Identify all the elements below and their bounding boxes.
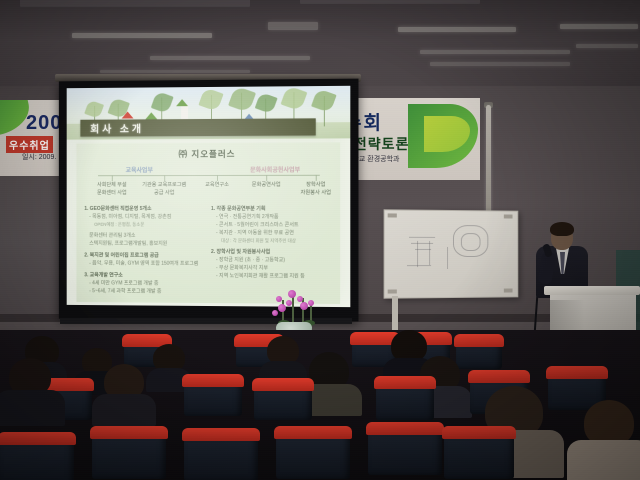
slide-title-bar: 회사 소개: [80, 118, 315, 136]
org-tag-right: 문화사회공헌사업부: [250, 165, 300, 174]
slide-bullet: 대상 : 각 문화센터 회원 및 지역주민 대상: [211, 237, 336, 244]
whiteboard-sketch: [461, 233, 481, 251]
banner-right: 수회 공전략토론 대학교 환경공학과: [338, 98, 480, 180]
org-node: 기관용 교육프로그램공급 사업: [137, 182, 191, 198]
seat: [254, 378, 312, 422]
speaker-hair: [550, 222, 574, 236]
banner-year: 200: [26, 112, 62, 135]
banner-left: 200 우수취업 일시: 2009.: [0, 100, 66, 176]
audience-area: [0, 330, 640, 480]
projection-screen: 회사 소개 ㈜ 지오플러스 교육사업부 문화사회공헌사업부 사회단체 부설문화센…: [59, 79, 359, 322]
slide-bullet: - 지역 노인복지회관 재활 프로그램 지원 등: [211, 272, 336, 281]
org-tag-left: 교육사업부: [126, 165, 153, 174]
slide-bullet: - 음악, 무용, 미술, GYM 영역 포함 150여개 프로그램: [84, 259, 207, 268]
slide-bullet: - 5~6세, 7세 과학 프로그램 개발 중: [84, 287, 207, 296]
org-node: 문화공연사업: [239, 182, 293, 190]
slide-bullet: - 목동점, 미아점, 디지털, 목계점, 강촌점: [84, 213, 207, 221]
org-node: 장학사업자원봉사 사업: [288, 182, 343, 198]
orchid-bloom: [286, 300, 292, 306]
orchid-bloom: [272, 310, 278, 316]
ceiling-panel: [20, 0, 250, 6]
slide-column-right: 1. 각종 문화공연부분 기획- 연극 · 전통공연기획 2개작품- 콘서트 ·…: [211, 205, 336, 281]
org-node: 사회단체 부설문화센터 사업: [85, 182, 138, 198]
illustration-roof: [176, 99, 188, 106]
illustration-roof: [122, 111, 134, 118]
orchid-bloom: [276, 296, 282, 302]
slide-bullet: 1. 각종 문화공연부분 기획: [211, 205, 336, 213]
slide-bullet: 1. GEO문화센터 직접운영 5개소: [84, 205, 207, 213]
ceiling-light-fixture: [420, 50, 570, 54]
seat: [276, 426, 350, 480]
seat: [444, 426, 514, 480]
org-connector: [98, 175, 320, 176]
orchid-bloom: [297, 296, 303, 302]
slide-bullet: 스텍지원팀, 프로그램개발팀, 홍보지원: [84, 240, 207, 248]
whiteboard: [384, 209, 519, 298]
orchid-bloom: [278, 304, 286, 312]
seat: [184, 428, 258, 480]
org-node: 교육연구소: [190, 182, 244, 190]
audience-member: [96, 364, 152, 418]
seat: [184, 374, 242, 418]
slide-title: 회사 소개: [80, 120, 144, 135]
ceiling-light-fixture: [150, 56, 310, 60]
ceiling-light-fixture: [72, 33, 212, 38]
podium-top-surface: [544, 286, 640, 295]
ceiling-light-fixture: [268, 22, 318, 30]
projected-slide: 회사 소개 ㈜ 지오플러스 교육사업부 문화사회공헌사업부 사회단체 부설문화센…: [67, 86, 351, 307]
seat: [0, 432, 74, 480]
orchid-bloom: [300, 302, 308, 310]
seat: [376, 376, 434, 422]
seat: [368, 422, 442, 480]
slide-column-left: 1. GEO문화센터 직접운영 5개소- 목동점, 미아점, 디지털, 목계점,…: [84, 205, 207, 296]
wall-lamp-tube: [486, 105, 491, 217]
audience-member: [262, 336, 304, 378]
slide-bullet: OPEN예정 : 은평점, 동소문: [84, 221, 207, 228]
seat: [92, 426, 166, 480]
ceiling-panel: [300, 0, 480, 3]
slide-body: ㈜ 지오플러스 교육사업부 문화사회공헌사업부 사회단체 부설문화센터 사업 기…: [76, 142, 340, 304]
ceiling-light-fixture: [430, 62, 570, 66]
slide-bullet: - 콘서트 · 5월어린이 크리스마스 콘서트: [211, 221, 336, 229]
seminar-room-photo: 200 우수취업 일시: 2009. 수회 공전략토론 대학교 환경공학과: [0, 0, 640, 480]
org-root-label: ㈜ 지오플러스: [76, 147, 340, 160]
banner-subline: 일시: 2009.: [22, 152, 56, 162]
audience-member: [0, 358, 60, 420]
ceiling-light-fixture: [100, 70, 250, 73]
audience-member: [574, 400, 640, 478]
banner-highlight: 우수취업: [6, 136, 53, 153]
orchid-bloom: [288, 290, 296, 298]
ceiling-light-fixture: [398, 27, 516, 32]
slide-bullet: - 연극 · 전통공연기획 2개작품: [211, 213, 336, 221]
ceiling-light-fixture: [576, 44, 638, 48]
ceiling-light-fixture: [560, 24, 638, 29]
orchid-bloom: [308, 300, 314, 306]
